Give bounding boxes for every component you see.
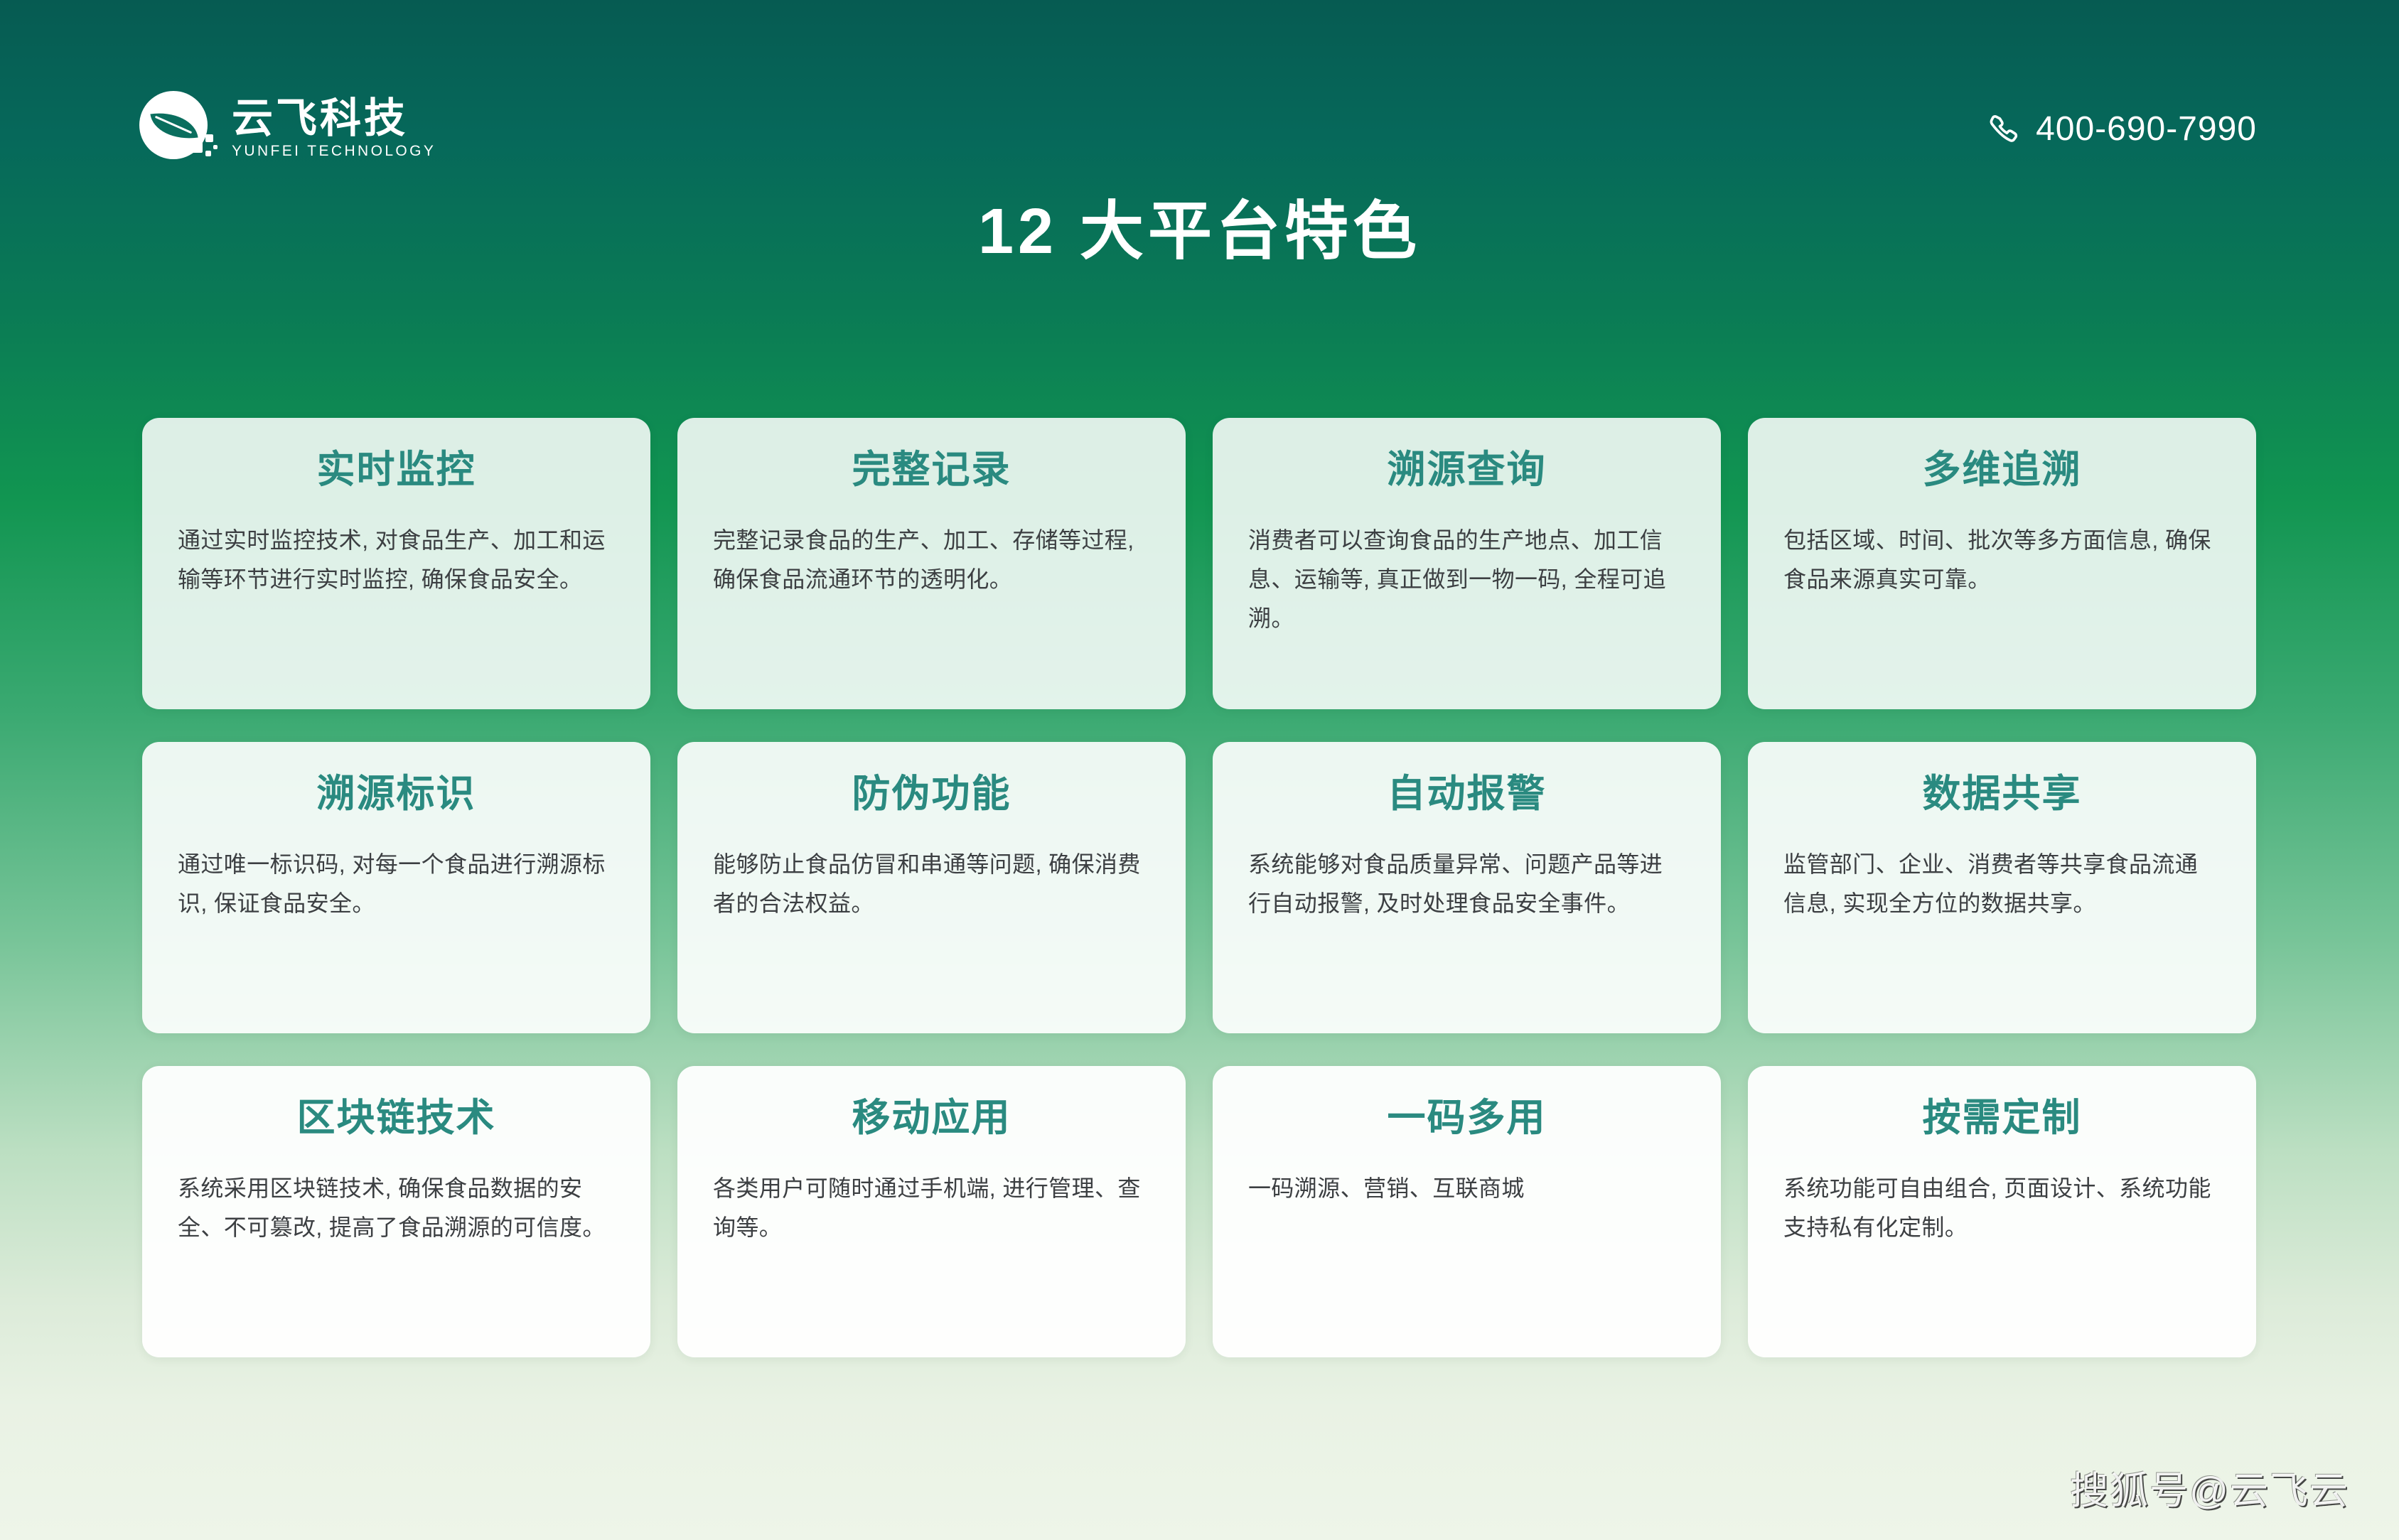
feature-card-description: 消费者可以查询食品的生产地点、加工信息、运输等, 真正做到一物一码, 全程可追溯… xyxy=(1248,521,1685,638)
feature-card-10[interactable]: 移动应用 各类用户可随时通过手机端, 进行管理、查询等。 xyxy=(677,1066,1186,1357)
feature-card-description: 一码溯源、营销、互联商城 xyxy=(1248,1169,1685,1208)
phone-icon xyxy=(1987,113,2020,146)
feature-card-description: 通过唯一标识码, 对每一个食品进行溯源标识, 保证食品安全。 xyxy=(178,845,615,923)
phone-number: 400-690-7990 xyxy=(2036,112,2257,146)
brand-logo[interactable]: 云飞科技 YUNFEI TECHNOLOGY xyxy=(139,91,436,165)
feature-card-4[interactable]: 多维追溯 包括区域、时间、批次等多方面信息, 确保食品来源真实可靠。 xyxy=(1748,418,2256,709)
feature-card-7[interactable]: 自动报警 系统能够对食品质量异常、问题产品等进行自动报警, 及时处理食品安全事件… xyxy=(1213,742,1721,1033)
feature-card-title: 移动应用 xyxy=(713,1097,1150,1139)
feature-card-title: 一码多用 xyxy=(1248,1097,1685,1139)
feature-card-description: 系统功能可自由组合, 页面设计、系统功能支持私有化定制。 xyxy=(1783,1169,2221,1247)
feature-card-description: 系统能够对食品质量异常、问题产品等进行自动报警, 及时处理食品安全事件。 xyxy=(1248,845,1685,923)
feature-card-title: 数据共享 xyxy=(1783,773,2221,815)
feature-card-12[interactable]: 按需定制 系统功能可自由组合, 页面设计、系统功能支持私有化定制。 xyxy=(1748,1066,2256,1357)
feature-card-9[interactable]: 区块链技术 系统采用区块链技术, 确保食品数据的安全、不可篡改, 提高了食品溯源… xyxy=(142,1066,650,1357)
page-title: 12 大平台特色 xyxy=(0,193,2399,270)
feature-card-title: 自动报警 xyxy=(1248,773,1685,815)
feature-card-5[interactable]: 溯源标识 通过唯一标识码, 对每一个食品进行溯源标识, 保证食品安全。 xyxy=(142,742,650,1033)
contact-block[interactable]: 400-690-7990 xyxy=(1987,112,2257,146)
feature-card-2[interactable]: 完整记录 完整记录食品的生产、加工、存储等过程, 确保食品流通环节的透明化。 xyxy=(677,418,1186,709)
brand-name-cn: 云飞科技 xyxy=(232,98,436,139)
feature-card-description: 系统采用区块链技术, 确保食品数据的安全、不可篡改, 提高了食品溯源的可信度。 xyxy=(178,1169,615,1247)
feature-card-title: 按需定制 xyxy=(1783,1097,2221,1139)
feature-card-title: 溯源标识 xyxy=(178,773,615,815)
feature-card-description: 包括区域、时间、批次等多方面信息, 确保食品来源真实可靠。 xyxy=(1783,521,2221,599)
watermark: 搜狐号@云飞云 xyxy=(2070,1472,2349,1510)
feature-card-title: 多维追溯 xyxy=(1783,449,2221,491)
feature-card-8[interactable]: 数据共享 监管部门、企业、消费者等共享食品流通信息, 实现全方位的数据共享。 xyxy=(1748,742,2256,1033)
feature-card-title: 区块链技术 xyxy=(178,1097,615,1139)
page-header: 云飞科技 YUNFEI TECHNOLOGY 400-690-7990 xyxy=(0,0,2399,185)
feature-card-description: 监管部门、企业、消费者等共享食品流通信息, 实现全方位的数据共享。 xyxy=(1783,845,2221,923)
feature-card-title: 完整记录 xyxy=(713,449,1150,491)
leaf-circle-logo-icon xyxy=(139,91,213,165)
feature-card-title: 实时监控 xyxy=(178,449,615,491)
feature-card-description: 完整记录食品的生产、加工、存储等过程, 确保食品流通环节的透明化。 xyxy=(713,521,1150,599)
feature-card-6[interactable]: 防伪功能 能够防止食品仿冒和串通等问题, 确保消费者的合法权益。 xyxy=(677,742,1186,1033)
feature-card-description: 能够防止食品仿冒和串通等问题, 确保消费者的合法权益。 xyxy=(713,845,1150,923)
feature-card-3[interactable]: 溯源查询 消费者可以查询食品的生产地点、加工信息、运输等, 真正做到一物一码, … xyxy=(1213,418,1721,709)
feature-card-title: 防伪功能 xyxy=(713,773,1150,815)
poster-canvas: 云飞科技 YUNFEI TECHNOLOGY 400-690-7990 12 大… xyxy=(0,0,2399,1540)
feature-card-description: 通过实时监控技术, 对食品生产、加工和运输等环节进行实时监控, 确保食品安全。 xyxy=(178,521,615,599)
feature-card-1[interactable]: 实时监控 通过实时监控技术, 对食品生产、加工和运输等环节进行实时监控, 确保食… xyxy=(142,418,650,709)
feature-card-description: 各类用户可随时通过手机端, 进行管理、查询等。 xyxy=(713,1169,1150,1247)
feature-card-grid: 实时监控 通过实时监控技术, 对食品生产、加工和运输等环节进行实时监控, 确保食… xyxy=(142,418,2257,1357)
brand-text: 云飞科技 YUNFEI TECHNOLOGY xyxy=(232,98,436,158)
brand-name-en: YUNFEI TECHNOLOGY xyxy=(232,144,436,158)
feature-card-11[interactable]: 一码多用 一码溯源、营销、互联商城 xyxy=(1213,1066,1721,1357)
feature-card-title: 溯源查询 xyxy=(1248,449,1685,491)
